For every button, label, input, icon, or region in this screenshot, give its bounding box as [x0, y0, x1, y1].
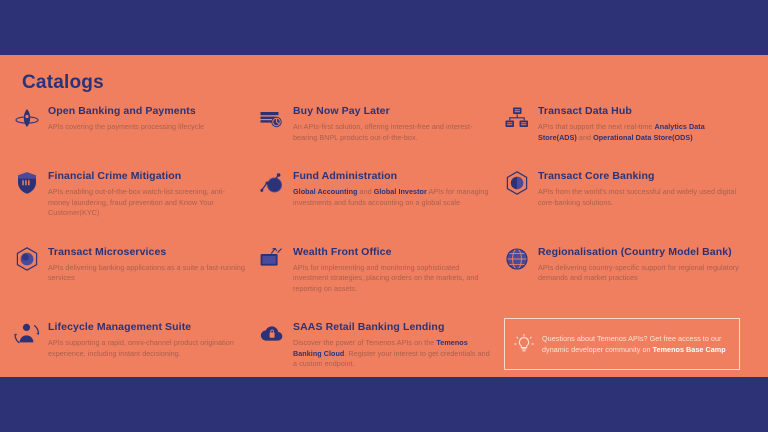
catalog-item[interactable]: Open Banking and PaymentsAPIs covering t…: [14, 104, 259, 143]
catalog-description: APIs enabling out-of-the-box watch-list …: [48, 187, 245, 219]
lifecycle-management-suite-icon: [14, 321, 40, 347]
catalog-title: Financial Crime Mitigation: [48, 170, 245, 183]
callout-text: Questions about Temenos APIs? Get free a…: [542, 333, 729, 355]
saas-retail-banking-lending-icon: [259, 321, 285, 347]
catalog-title: Regionalisation (Country Model Bank): [538, 246, 740, 259]
catalog-title: SAAS Retail Banking Lending: [293, 321, 490, 334]
slide-root: Catalogs Open Banking and PaymentsAPIs c…: [0, 0, 768, 432]
buy-now-pay-later-icon: [259, 105, 285, 131]
catalog-item[interactable]: Wealth Front OfficeAPIs for implementing…: [259, 245, 504, 295]
catalog-item[interactable]: Regionalisation (Country Model Bank)APIs…: [504, 245, 754, 295]
wealth-front-office-icon: [259, 246, 285, 272]
catalog-title: Buy Now Pay Later: [293, 105, 490, 118]
catalog-description: An APIs-first solution, offering interes…: [293, 122, 490, 143]
page-title: Catalogs: [22, 72, 104, 94]
financial-crime-mitigation-icon: [14, 170, 40, 196]
catalog-description: APIs for implementing and monitoring sop…: [293, 263, 490, 295]
catalog-item[interactable]: Buy Now Pay LaterAn APIs-first solution,…: [259, 104, 504, 143]
catalog-item[interactable]: Transact Core BankingAPIs from the world…: [504, 169, 754, 219]
catalog-title: Transact Microservices: [48, 246, 245, 259]
catalog-description: APIs covering the payments processing li…: [48, 122, 245, 133]
catalog-title: Transact Data Hub: [538, 105, 740, 118]
catalog-title: Wealth Front Office: [293, 246, 490, 259]
transact-microservices-icon: [14, 246, 40, 272]
catalog-item[interactable]: Financial Crime MitigationAPIs enabling …: [14, 169, 259, 219]
catalog-title: Lifecycle Management Suite: [48, 321, 245, 334]
catalog-description: Global Accounting and Global Investor AP…: [293, 187, 490, 208]
catalog-title: Open Banking and Payments: [48, 105, 245, 118]
developer-community-callout[interactable]: Questions about Temenos APIs? Get free a…: [504, 318, 740, 370]
transact-data-hub-icon: [504, 105, 530, 131]
catalog-item[interactable]: Lifecycle Management SuiteAPIs supportin…: [14, 320, 259, 370]
lightbulb-icon: [513, 333, 535, 355]
catalog-item[interactable]: Fund AdministrationGlobal Accounting and…: [259, 169, 504, 219]
catalog-title: Transact Core Banking: [538, 170, 740, 183]
catalog-item[interactable]: Transact MicroservicesAPIs delivering ba…: [14, 245, 259, 295]
catalog-item[interactable]: Transact Data HubAPIs that support the n…: [504, 104, 754, 143]
transact-core-banking-icon: [504, 170, 530, 196]
catalog-grid: Open Banking and PaymentsAPIs covering t…: [14, 104, 754, 370]
regionalisation-globe-icon: [504, 246, 530, 272]
catalog-description: APIs from the world's most successful an…: [538, 187, 740, 208]
catalog-description: APIs delivering banking applications as …: [48, 263, 245, 284]
catalog-title: Fund Administration: [293, 170, 490, 183]
open-banking-payments-icon: [14, 105, 40, 131]
catalog-item[interactable]: SAAS Retail Banking LendingDiscover the …: [259, 320, 504, 370]
catalog-description: APIs supporting a rapid, omni-channel pr…: [48, 338, 245, 359]
catalog-description: APIs delivering country-specific support…: [538, 263, 740, 284]
fund-administration-icon: [259, 170, 285, 196]
catalog-description: Discover the power of Temenos APIs on th…: [293, 338, 490, 370]
catalog-description: APIs that support the next real-time Ana…: [538, 122, 740, 143]
